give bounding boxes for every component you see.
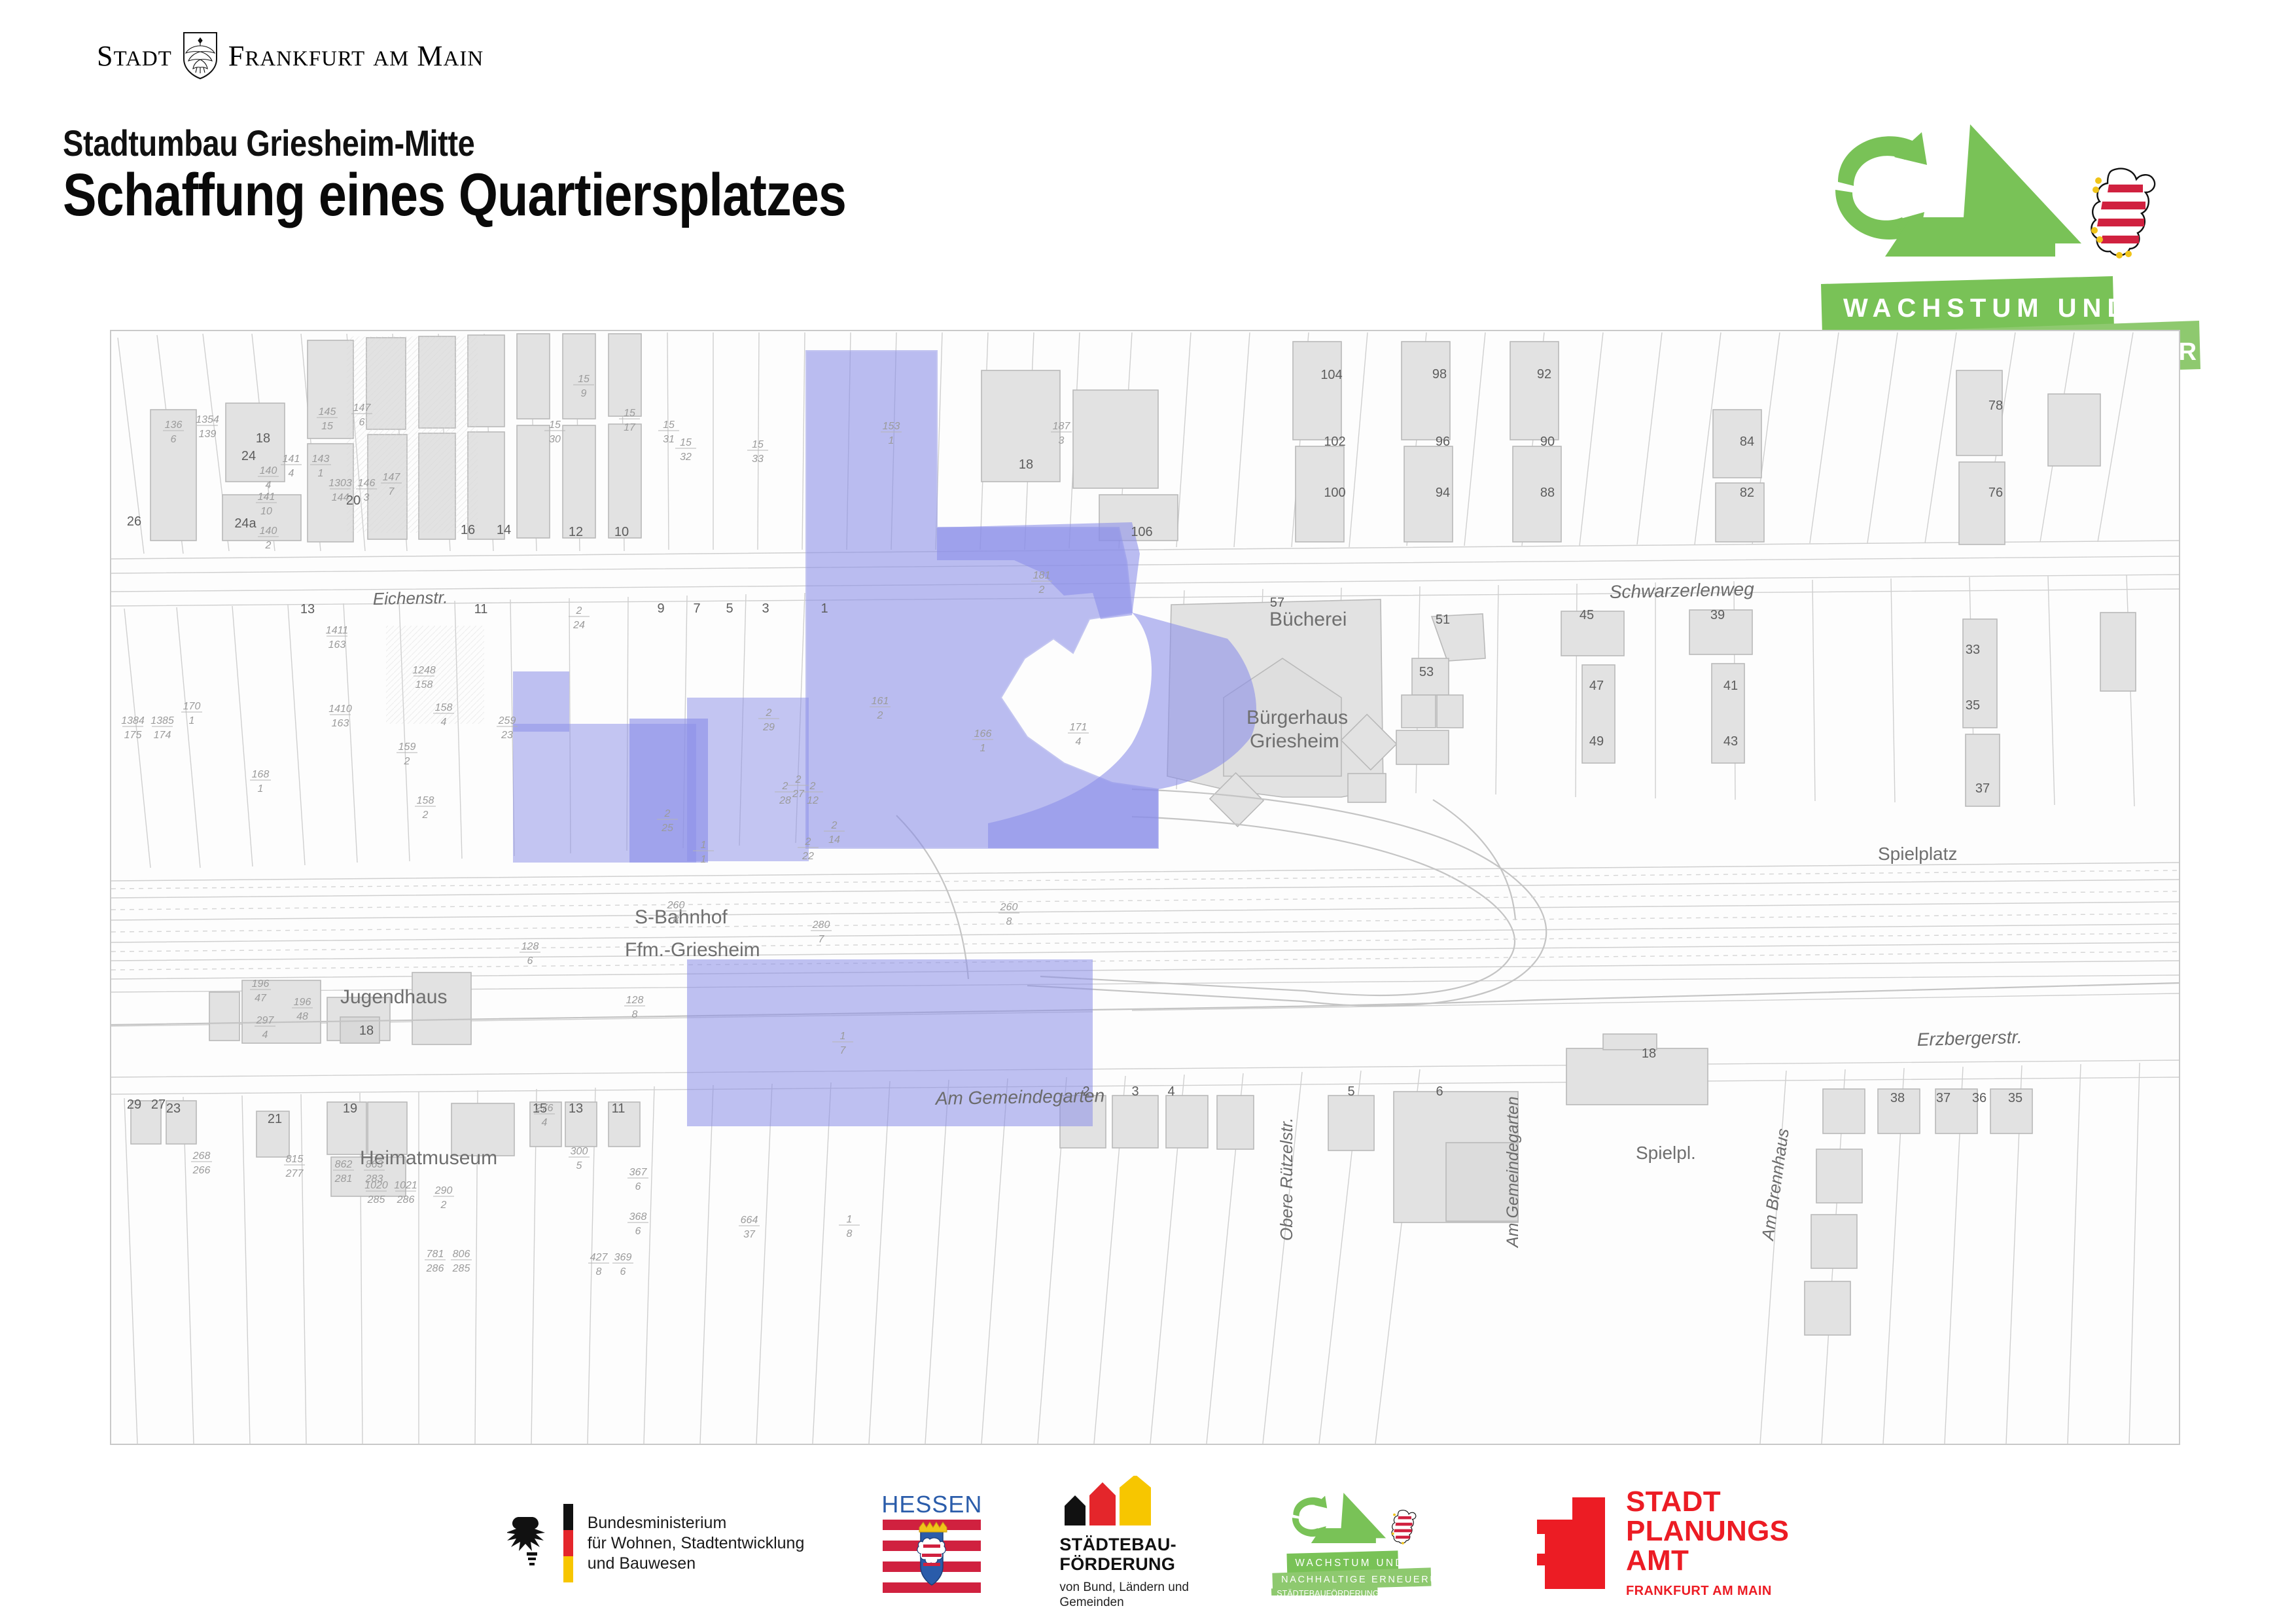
svg-text:163: 163	[332, 718, 349, 729]
svg-text:862: 862	[335, 1159, 353, 1170]
house-number: 2	[1082, 1084, 1089, 1099]
hessen-wordmark: HESSEN	[881, 1491, 982, 1518]
svg-text:31: 31	[663, 434, 675, 445]
house-number: 26	[127, 514, 141, 529]
house-number: 84	[1740, 435, 1754, 449]
place-label: Bürgerhaus	[1246, 707, 1348, 728]
spa-line-3: AMT	[1626, 1546, 1789, 1576]
house-number: 43	[1723, 734, 1738, 749]
house-number: 10	[614, 525, 629, 539]
svg-text:37: 37	[743, 1229, 756, 1240]
staedtebaufoerderung-logo: STÄDTEBAU- FÖRDERUNG von Bund, Ländern u…	[1059, 1476, 1189, 1611]
spa-line-1: STADT	[1626, 1488, 1789, 1517]
svg-text:2: 2	[831, 820, 838, 831]
svg-text:143: 143	[312, 454, 330, 465]
hessen-lion-icon-small	[1392, 1510, 1416, 1544]
house-number: 39	[1710, 608, 1725, 622]
svg-text:2: 2	[782, 781, 788, 792]
svg-text:1020: 1020	[364, 1180, 388, 1191]
svg-text:33: 33	[752, 454, 764, 465]
house-number: 82	[1740, 486, 1754, 500]
program-logo-small-icon: WACHSTUM UND NACHHALTIGE ERNEUERUNG STÄD…	[1266, 1491, 1456, 1596]
hessen-lion-icon	[2091, 169, 2155, 259]
svg-text:163: 163	[328, 639, 346, 651]
svg-text:140: 140	[260, 526, 277, 537]
place-label: Jugendhaus	[340, 986, 447, 1008]
house-number: 100	[1324, 486, 1345, 500]
house-number: 5	[1347, 1084, 1354, 1099]
svg-text:1303: 1303	[328, 478, 352, 489]
stadtplanungsamt-text: STADT PLANUNGS AMT	[1626, 1488, 1789, 1576]
house-number: 36	[1972, 1091, 1987, 1105]
svg-text:145: 145	[319, 406, 336, 418]
house-number: 23	[166, 1101, 181, 1116]
svg-text:285: 285	[367, 1194, 385, 1205]
svg-text:297: 297	[256, 1015, 275, 1026]
staedtebau-subtext: von Bund, Ländern und Gemeinden	[1059, 1580, 1189, 1611]
svg-text:276: 276	[535, 1103, 554, 1114]
house-number: 51	[1436, 613, 1450, 627]
house-number: 13	[569, 1101, 583, 1116]
svg-text:147: 147	[383, 472, 401, 483]
house-number: 7	[693, 601, 700, 616]
svg-text:7: 7	[819, 934, 825, 945]
svg-text:2: 2	[664, 808, 671, 819]
svg-text:15: 15	[663, 419, 675, 431]
svg-text:6: 6	[171, 434, 177, 445]
svg-text:196: 196	[294, 997, 311, 1008]
place-label: Spielplatz	[1878, 844, 1957, 864]
svg-text:4: 4	[262, 1029, 268, 1041]
house-number: 29	[127, 1097, 141, 1112]
house-number: 57	[1270, 596, 1284, 610]
poster-page: STADT FRANKFURT AM MAIN Stadtumbau Gries…	[0, 0, 2296, 1623]
bmwsb-line-2: für Wohnen, Stadtentwicklung	[588, 1533, 805, 1554]
svg-text:174: 174	[154, 730, 171, 741]
svg-text:1410: 1410	[328, 704, 352, 715]
program-small-line1: WACHSTUM UND	[1295, 1558, 1404, 1569]
svg-text:268: 268	[192, 1150, 211, 1162]
house-number: 53	[1419, 665, 1434, 679]
svg-text:159: 159	[398, 741, 416, 753]
svg-text:32: 32	[680, 452, 692, 463]
svg-text:2: 2	[809, 781, 816, 792]
svg-text:15: 15	[549, 419, 561, 431]
house-number: 38	[1890, 1091, 1905, 1105]
house-number: 76	[1988, 486, 2003, 500]
house-number: 18	[359, 1024, 374, 1038]
svg-text:17: 17	[624, 422, 636, 433]
page-title: Schaffung eines Quartiersplatzes	[63, 161, 846, 230]
svg-text:290: 290	[434, 1185, 453, 1196]
svg-text:1021: 1021	[394, 1180, 417, 1191]
house-number: 102	[1324, 435, 1345, 449]
svg-text:1384: 1384	[121, 715, 145, 726]
staedtebau-line-2: FÖRDERUNG	[1059, 1554, 1176, 1574]
street-label: Erzbergerstr.	[1916, 1027, 2022, 1050]
house-number: 78	[1988, 399, 2003, 413]
svg-text:136: 136	[165, 419, 183, 431]
svg-text:8: 8	[847, 1228, 853, 1240]
house-number: 35	[2008, 1091, 2022, 1105]
svg-text:369: 369	[614, 1252, 632, 1263]
svg-text:29: 29	[762, 722, 775, 733]
spa-subtext: FRANKFURT AM MAIN	[1626, 1584, 1789, 1599]
svg-text:140: 140	[260, 465, 277, 476]
svg-text:1: 1	[701, 840, 707, 851]
house-number: 21	[268, 1112, 282, 1126]
svg-text:367: 367	[629, 1167, 648, 1178]
svg-text:5: 5	[576, 1160, 582, 1171]
svg-text:4: 4	[1076, 736, 1082, 747]
svg-text:4: 4	[289, 468, 294, 479]
program-logo-small: WACHSTUM UND NACHHALTIGE ERNEUERUNG STÄD…	[1266, 1491, 1456, 1596]
street-label: Eichenstr.	[372, 588, 448, 609]
svg-text:300: 300	[571, 1146, 588, 1157]
house-number: 37	[1936, 1091, 1951, 1105]
house-number: 27	[151, 1097, 166, 1112]
svg-text:15: 15	[680, 437, 692, 448]
svg-text:128: 128	[521, 941, 539, 952]
svg-text:23: 23	[501, 730, 513, 741]
street-label: Schwarzerlenweg	[1609, 579, 1754, 602]
place-label: Bücherei	[1269, 609, 1347, 630]
svg-text:1: 1	[701, 854, 707, 865]
cadastral-map[interactable]: Eichenstr.SchwarzerlenwegErzbergerstr.Am…	[110, 330, 2180, 1445]
house-number: 11	[612, 1101, 626, 1116]
bmwsb-line-3: und Bauwesen	[588, 1554, 805, 1574]
svg-text:48: 48	[296, 1011, 308, 1022]
svg-text:368: 368	[629, 1211, 647, 1222]
staedtebau-line-1: STÄDTEBAU-	[1059, 1535, 1176, 1554]
staedtebau-sub-2: Gemeinden	[1059, 1595, 1189, 1611]
svg-text:28: 28	[779, 795, 791, 806]
svg-text:8: 8	[673, 914, 679, 925]
svg-text:1354: 1354	[196, 414, 219, 425]
house-number: 88	[1540, 486, 1555, 500]
staedtebau-sub-1: von Bund, Ländern und	[1059, 1580, 1189, 1596]
place-label: Spielpl.	[1636, 1143, 1696, 1163]
svg-text:266: 266	[192, 1165, 211, 1176]
svg-text:146: 146	[358, 478, 376, 489]
house-number: 47	[1589, 679, 1604, 693]
house-number: 18	[256, 431, 270, 446]
svg-text:15: 15	[321, 421, 333, 432]
svg-text:171: 171	[1070, 722, 1087, 733]
footer-logo-row: Bundesministerium für Wohnen, Stadtentwi…	[0, 1478, 2296, 1609]
house-number: 45	[1580, 608, 1594, 622]
house-number: 90	[1540, 435, 1555, 449]
house-number: 19	[343, 1101, 357, 1116]
house-number: 6	[1436, 1084, 1443, 1099]
svg-text:15: 15	[752, 439, 764, 450]
svg-text:2: 2	[576, 605, 582, 616]
svg-text:170: 170	[183, 701, 201, 712]
house-number: 5	[726, 601, 733, 616]
bundesministerium-logo: Bundesministerium für Wohnen, Stadtentwi…	[507, 1504, 805, 1582]
svg-text:7: 7	[840, 1045, 847, 1056]
svg-text:260: 260	[667, 900, 685, 911]
svg-text:4: 4	[441, 717, 447, 728]
svg-text:6: 6	[635, 1181, 641, 1192]
house-number: 104	[1320, 368, 1342, 382]
svg-text:158: 158	[417, 795, 434, 806]
svg-text:168: 168	[252, 769, 270, 780]
house-number: 24a	[234, 516, 256, 531]
house-number: 1	[821, 601, 828, 616]
svg-text:6: 6	[620, 1266, 626, 1277]
house-number: 94	[1436, 486, 1450, 500]
svg-text:147: 147	[353, 402, 372, 414]
house-number: 18	[1019, 457, 1033, 472]
svg-text:664: 664	[741, 1215, 758, 1226]
svg-text:2: 2	[805, 836, 811, 847]
svg-text:27: 27	[792, 789, 805, 800]
house-number: 24	[241, 449, 256, 463]
svg-text:6: 6	[635, 1226, 641, 1237]
svg-text:863: 863	[366, 1159, 383, 1170]
house-number: 41	[1723, 679, 1738, 693]
svg-text:9: 9	[581, 388, 587, 399]
svg-text:1: 1	[840, 1031, 846, 1042]
svg-text:6: 6	[359, 417, 365, 428]
svg-text:15: 15	[624, 408, 635, 419]
svg-text:3: 3	[364, 492, 370, 503]
svg-text:3: 3	[1059, 435, 1065, 446]
svg-text:6: 6	[527, 955, 533, 967]
svg-text:196: 196	[252, 978, 270, 990]
house-number: 4	[1167, 1084, 1174, 1099]
svg-text:141: 141	[258, 491, 275, 503]
program-line1: WACHSTUM UND	[1843, 294, 2132, 323]
house-number: 49	[1589, 734, 1604, 749]
svg-text:781: 781	[427, 1249, 444, 1260]
svg-text:166: 166	[974, 728, 992, 740]
program-small-line2: NACHHALTIGE ERNEUERUNG	[1281, 1575, 1456, 1585]
svg-text:22: 22	[802, 851, 814, 862]
frankfurt-am-main-word: FRANKFURT AM MAIN	[228, 39, 484, 73]
svg-text:158: 158	[435, 702, 453, 713]
program-small-line3: STÄDTEBAUFÖRDERUNG HESSEN	[1277, 1589, 1415, 1596]
svg-text:161: 161	[872, 696, 889, 707]
svg-text:815: 815	[286, 1154, 304, 1165]
svg-text:281: 281	[334, 1173, 353, 1185]
house-number: 16	[461, 523, 475, 537]
hessen-flag-icon	[883, 1518, 981, 1596]
svg-text:2: 2	[265, 540, 272, 551]
house-number: 11	[474, 602, 488, 616]
house-number: 14	[497, 523, 511, 537]
spa-line-2: PLANUNGS	[1626, 1517, 1789, 1546]
house-number: 98	[1432, 367, 1447, 382]
house-number: 106	[1131, 525, 1152, 539]
svg-text:158: 158	[415, 679, 433, 690]
svg-text:1: 1	[318, 468, 324, 479]
stadtplanungsamt-mark-icon	[1533, 1497, 1609, 1589]
svg-text:181: 181	[1033, 570, 1051, 581]
svg-text:2: 2	[422, 810, 429, 821]
svg-text:10: 10	[260, 506, 272, 517]
street-label: Am Gemeindegarten	[1504, 1096, 1522, 1249]
house-number: 12	[569, 525, 583, 539]
svg-text:8: 8	[596, 1266, 602, 1277]
city-logo: STADT FRANKFURT AM MAIN	[97, 31, 484, 80]
svg-text:1385: 1385	[150, 715, 174, 726]
svg-text:153: 153	[883, 421, 900, 432]
house-number: 33	[1966, 643, 1980, 657]
svg-text:1: 1	[847, 1214, 853, 1225]
bundesministerium-text: Bundesministerium für Wohnen, Stadtentwi…	[588, 1513, 805, 1574]
street-label: Obere Rützelstr.	[1277, 1118, 1296, 1241]
svg-text:4: 4	[542, 1117, 548, 1128]
house-number: 3	[762, 601, 769, 616]
svg-text:2: 2	[440, 1200, 447, 1211]
house-number: 18	[1642, 1046, 1656, 1061]
svg-text:25: 25	[661, 823, 673, 834]
frankfurt-eagle-crest-icon	[181, 31, 219, 80]
three-houses-icon	[1059, 1476, 1157, 1528]
staedtebau-text: STÄDTEBAU- FÖRDERUNG	[1059, 1535, 1176, 1574]
svg-text:260: 260	[1000, 902, 1018, 913]
place-label: Ffm.-Griesheim	[625, 939, 760, 961]
svg-text:286: 286	[397, 1194, 415, 1205]
stadt-word: STADT	[97, 39, 172, 73]
hessen-crest-icon	[917, 1522, 947, 1585]
svg-text:47: 47	[255, 993, 267, 1004]
svg-text:187: 187	[1053, 421, 1071, 432]
svg-text:8: 8	[632, 1009, 638, 1020]
hessen-logo: HESSEN	[881, 1491, 982, 1596]
house-number: 92	[1537, 367, 1551, 382]
house-number: 13	[300, 602, 315, 616]
bundesadler-icon	[507, 1512, 557, 1575]
svg-text:1: 1	[258, 783, 264, 794]
svg-text:1: 1	[189, 715, 195, 726]
stadtplanungsamt-logo: STADT PLANUNGS AMT FRANKFURT AM MAIN	[1533, 1488, 1789, 1599]
house-number: 35	[1966, 698, 1980, 713]
house-number: 37	[1975, 781, 1990, 796]
svg-text:280: 280	[812, 919, 830, 931]
svg-text:15: 15	[578, 374, 590, 385]
svg-text:4: 4	[266, 480, 272, 491]
svg-text:806: 806	[453, 1249, 470, 1260]
svg-text:12: 12	[807, 795, 819, 806]
svg-text:285: 285	[452, 1263, 470, 1274]
svg-text:1248: 1248	[412, 665, 436, 676]
svg-text:2: 2	[404, 756, 410, 767]
svg-text:24: 24	[573, 620, 585, 631]
svg-text:1411: 1411	[326, 625, 348, 636]
svg-text:139: 139	[199, 429, 217, 440]
svg-text:1: 1	[980, 743, 986, 754]
svg-text:7: 7	[389, 486, 395, 497]
svg-text:8: 8	[1006, 916, 1012, 927]
place-label: Griesheim	[1250, 730, 1339, 752]
svg-text:277: 277	[285, 1168, 304, 1179]
svg-text:427: 427	[590, 1252, 609, 1263]
svg-text:30: 30	[549, 434, 561, 445]
house-number: 9	[657, 601, 664, 616]
svg-text:1: 1	[889, 435, 894, 446]
poster-subtitle: Stadtumbau Griesheim-Mitte	[63, 122, 474, 164]
svg-text:14: 14	[828, 834, 840, 846]
street-label: Am Gemeindegarten	[934, 1085, 1105, 1109]
svg-text:2: 2	[1038, 584, 1045, 596]
svg-text:2: 2	[766, 707, 772, 719]
svg-text:2: 2	[795, 774, 802, 785]
svg-text:128: 128	[626, 995, 644, 1006]
house-number: 96	[1436, 435, 1450, 449]
house-number: 3	[1131, 1084, 1139, 1099]
svg-text:259: 259	[498, 715, 516, 726]
svg-text:286: 286	[426, 1263, 444, 1274]
svg-text:141: 141	[283, 454, 300, 465]
svg-text:144: 144	[332, 492, 349, 503]
svg-text:175: 175	[124, 730, 142, 741]
svg-text:2: 2	[877, 710, 883, 721]
german-flag-bar-icon	[563, 1504, 573, 1582]
bmwsb-line-1: Bundesministerium	[588, 1513, 805, 1533]
